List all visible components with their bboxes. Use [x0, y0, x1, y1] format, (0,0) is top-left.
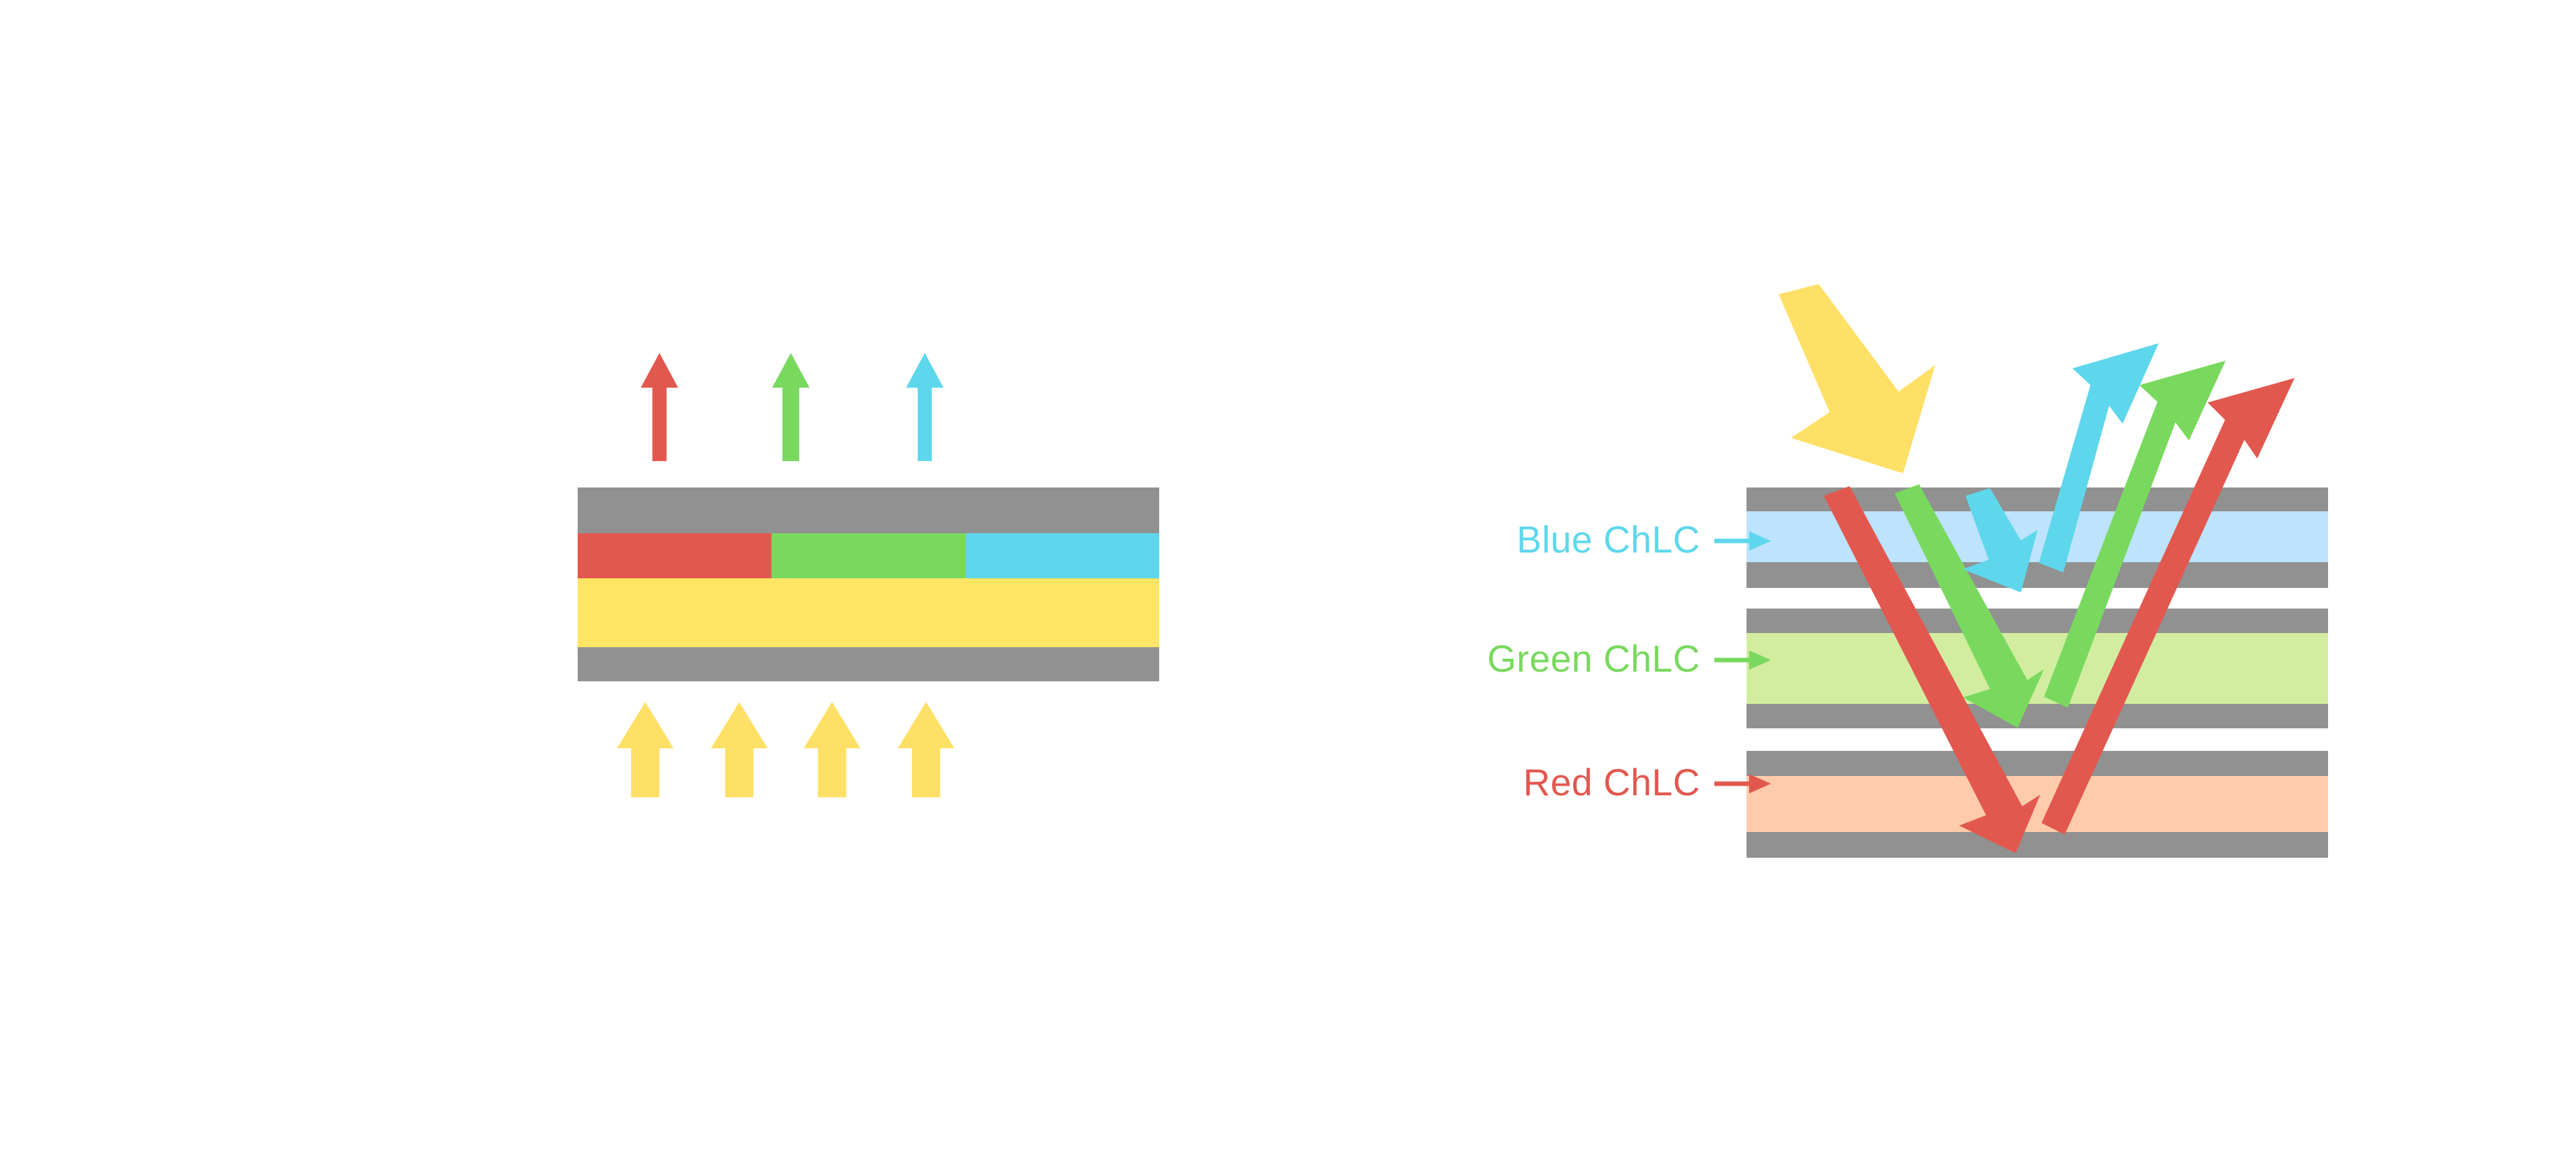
incident-white-light-arrow — [1779, 284, 1935, 473]
red-chlc-layer — [1747, 776, 2328, 832]
blue-cell-bottom-electrode — [1747, 562, 2328, 588]
emitted-green-arrow — [772, 353, 810, 461]
backlight-arrow-3 — [804, 702, 860, 797]
red-chlc-cell — [1747, 751, 2328, 858]
backlight-arrow-4 — [898, 702, 954, 797]
red-subpixel — [578, 533, 772, 578]
left-display-stack — [578, 487, 1159, 681]
green-chlc-layer — [1747, 633, 2328, 704]
red-chlc-label: Red ChLC — [1523, 762, 1700, 804]
backlight-arrows — [617, 702, 954, 797]
emitted-blue-arrow — [906, 353, 943, 461]
right-reflection-panel: Blue ChLC Green ChLC Red ChLC — [1487, 284, 2328, 858]
blue-chlc-label: Blue ChLC — [1517, 519, 1700, 561]
green-cell-top-electrode — [1747, 609, 2328, 633]
red-cell-bottom-electrode — [1747, 832, 2328, 858]
blue-chlc-layer — [1747, 511, 2328, 562]
green-chlc-label: Green ChLC — [1487, 638, 1700, 680]
figure-root: Blue ChLC Green ChLC Red ChLC — [0, 0, 2576, 1154]
backlight-arrow-2 — [711, 702, 768, 797]
red-cell-top-electrode — [1747, 751, 2328, 776]
backlight-arrow-1 — [617, 702, 674, 797]
blue-subpixel — [966, 533, 1159, 578]
green-chlc-cell — [1747, 609, 2328, 728]
green-subpixel — [772, 533, 966, 578]
emitted-light-arrows — [641, 353, 943, 461]
chlc-layer-labels: Blue ChLC Green ChLC Red ChLC — [1487, 519, 1771, 804]
chlc-stack-diagram: Blue ChLC Green ChLC Red ChLC — [0, 0, 2576, 1154]
left-top-electrode — [578, 487, 1159, 533]
left-bottom-electrode — [578, 647, 1159, 681]
green-cell-bottom-electrode — [1747, 704, 2328, 728]
emitted-red-arrow — [641, 353, 678, 461]
left-emission-panel — [578, 353, 1159, 797]
backlight-layer — [578, 578, 1159, 647]
